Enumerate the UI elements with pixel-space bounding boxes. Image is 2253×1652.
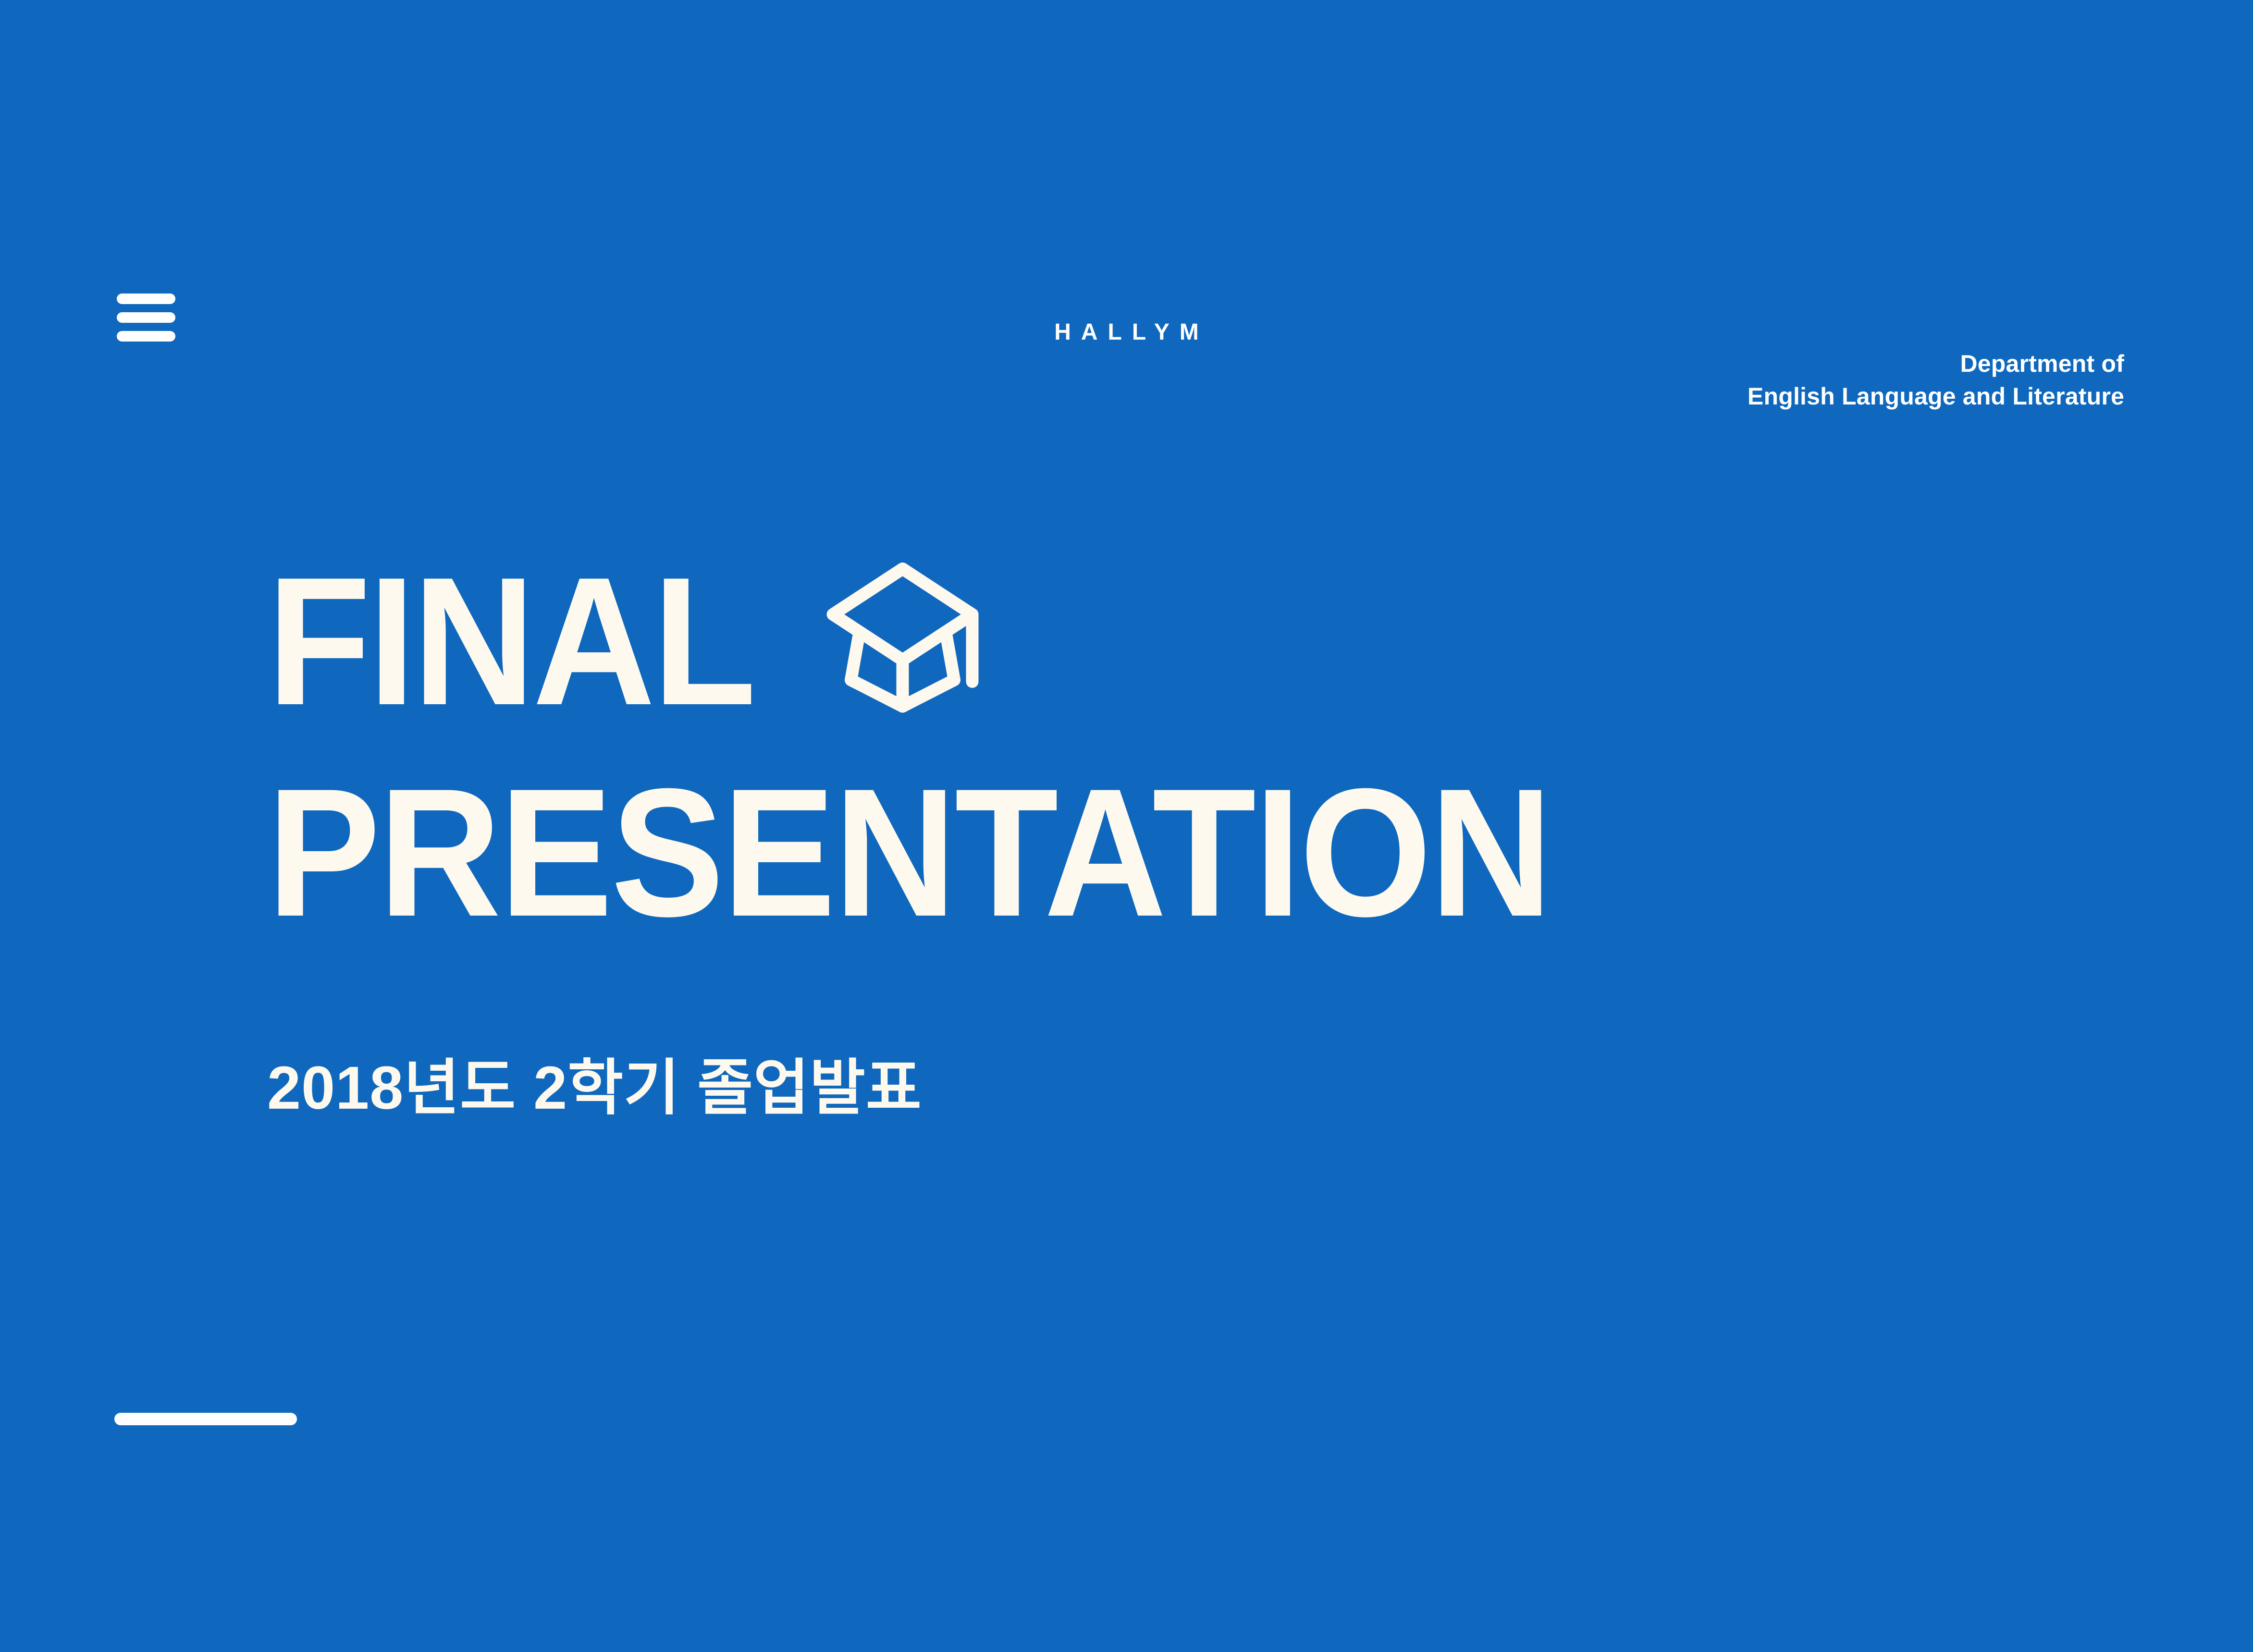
university-brand-name: HALLYM [0, 321, 2253, 344]
title-line-2-row: PRESENTATION [267, 757, 1978, 949]
department-name: Department of English Language and Liter… [1748, 347, 2124, 413]
presentation-title-slide: HALLYM Department of English Language an… [0, 0, 2253, 1652]
page-title-line-1: FINAL [267, 557, 753, 725]
department-line-2: English Language and Literature [1748, 380, 2124, 413]
page-title-line-2: PRESENTATION [267, 769, 1551, 937]
department-line-1: Department of [1748, 347, 2124, 380]
title-line-1-row: FINAL [267, 545, 1978, 737]
footer-divider-rule [114, 1413, 297, 1425]
hamburger-bar-top [117, 294, 175, 304]
graduation-cap-icon [822, 556, 1000, 715]
hero-title-block: FINAL PRESENTATION [267, 545, 1978, 949]
page-subtitle: 2018년도 2학기 졸업발표 [267, 1055, 922, 1122]
